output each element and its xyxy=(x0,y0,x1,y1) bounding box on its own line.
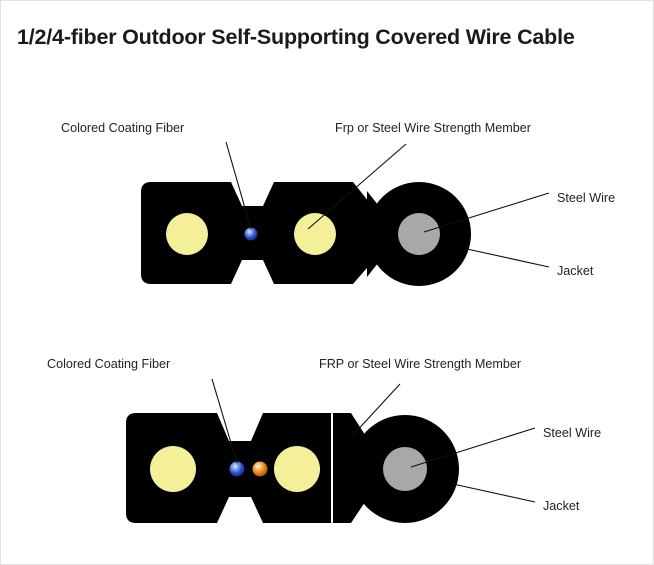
upper-strength-member-left xyxy=(166,213,208,255)
label-upper-strength-member: Frp or Steel Wire Strength Member xyxy=(335,121,531,135)
diagram-page: 1/2/4-fiber Outdoor Self-Supporting Cove… xyxy=(0,0,654,565)
lower-fiber-blue xyxy=(230,462,245,477)
lower-leader-jacket xyxy=(453,484,535,502)
label-lower-strength-member: FRP or Steel Wire Strength Member xyxy=(319,357,521,371)
upper-steel-wire-core xyxy=(398,213,440,255)
label-lower-steel-wire: Steel Wire xyxy=(543,426,601,440)
upper-leader-jacket xyxy=(467,249,549,267)
upper-strength-member-right xyxy=(294,213,336,255)
label-lower-jacket: Jacket xyxy=(543,499,579,513)
upper-fiber-blue xyxy=(245,228,258,241)
lower-strength-member-left xyxy=(150,446,196,492)
label-upper-jacket: Jacket xyxy=(557,264,593,278)
upper-cable-diagram xyxy=(141,142,549,286)
label-upper-steel-wire: Steel Wire xyxy=(557,191,615,205)
lower-jacket-body-right-section xyxy=(333,413,351,523)
lower-steel-wire-core xyxy=(383,447,427,491)
lower-cable-diagram xyxy=(126,379,535,523)
lower-strength-member-right xyxy=(274,446,320,492)
label-upper-colored-coating-fiber: Colored Coating Fiber xyxy=(61,121,184,135)
label-lower-colored-coating-fiber: Colored Coating Fiber xyxy=(47,357,170,371)
cable-diagram-canvas xyxy=(1,1,654,565)
lower-fiber-orange xyxy=(253,462,268,477)
